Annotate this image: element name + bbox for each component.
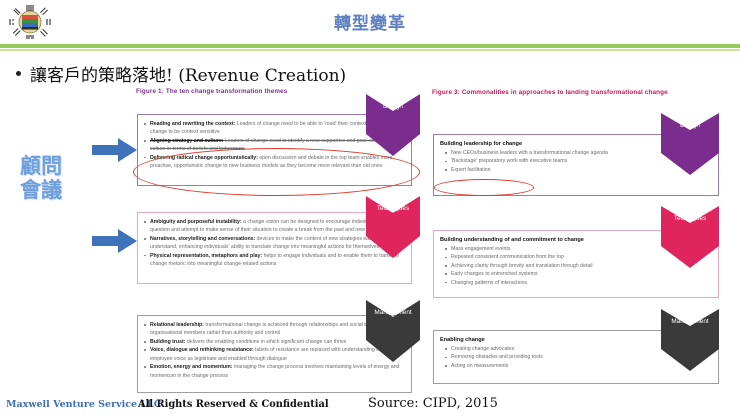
right-stage-chevron-management: Management (661, 309, 719, 373)
left-stage-label-design: Design (383, 103, 403, 110)
list-item: Early changes to entrenched systems (444, 270, 710, 278)
slide-header: 轉型變革 (0, 0, 740, 44)
source-citation: Source: CIPD, 2015 (368, 396, 498, 411)
left-stage-chevron-techniques: Techniques (366, 196, 420, 260)
left-stage-label-techniques: Techniques (377, 205, 409, 212)
list-item: Emotion, energy and momentum: managing t… (143, 363, 404, 380)
list-item: Narratives, storytelling and conversatio… (143, 235, 404, 252)
bullet-dot-icon (16, 71, 21, 76)
list-item: Changing patterns of interactions (444, 279, 710, 287)
list-item: Relational leadership: transformational … (143, 321, 404, 338)
right-stage-label-design: Design (680, 122, 700, 129)
header-divider (0, 44, 740, 48)
list-item: Building trust: delivers the enabling co… (143, 338, 404, 346)
left-block-techniques-list: Ambiguity and purposeful instability: a … (143, 218, 404, 269)
caption-line-1: 顧問 (20, 155, 92, 179)
slide-canvas: 轉型變革 讓客戶的策略落地! (Revenue Creation) 顧問 會議 … (0, 0, 740, 416)
highlight-ellipse-right (434, 179, 534, 196)
list-item: Physical representation, metaphors and p… (143, 252, 404, 269)
consultant-meeting-caption: 顧問 會議 (20, 155, 92, 202)
caption-line-2: 會議 (20, 179, 92, 203)
footer-rights: All Rights Reserved & Confidential (138, 399, 329, 410)
header-divider-light (0, 49, 740, 51)
right-stage-chevron-design: Design (661, 113, 719, 177)
main-bullet-text: 讓客戶的策略落地! (Revenue Creation) (30, 61, 346, 86)
left-stage-label-management: Management (374, 309, 411, 316)
right-figure-title: Figure 3: Commonalities in approaches to… (432, 89, 732, 96)
left-block-management-list: Relational leadership: transformational … (143, 321, 404, 380)
right-stage-label-techniques: Techniques (674, 215, 706, 222)
left-stage-chevron-design: Design (366, 94, 420, 158)
page-title: 轉型變革 (0, 9, 740, 34)
main-bullet: 讓客戶的策略落地! (Revenue Creation) (16, 60, 576, 86)
list-item: Voice, dialogue and rethinking resistanc… (143, 346, 404, 363)
list-item: Reading and rewriting the context: Leade… (143, 120, 404, 137)
blue-arrow-icon-top (92, 137, 138, 163)
right-stage-label-management: Management (671, 318, 708, 325)
blue-arrow-icon-bottom (92, 228, 138, 254)
list-item: Ambiguity and purposeful instability: a … (143, 218, 404, 235)
left-stage-chevron-management: Management (366, 300, 420, 364)
right-stage-chevron-techniques: Techniques (661, 206, 719, 270)
highlight-ellipse-left (133, 148, 420, 196)
